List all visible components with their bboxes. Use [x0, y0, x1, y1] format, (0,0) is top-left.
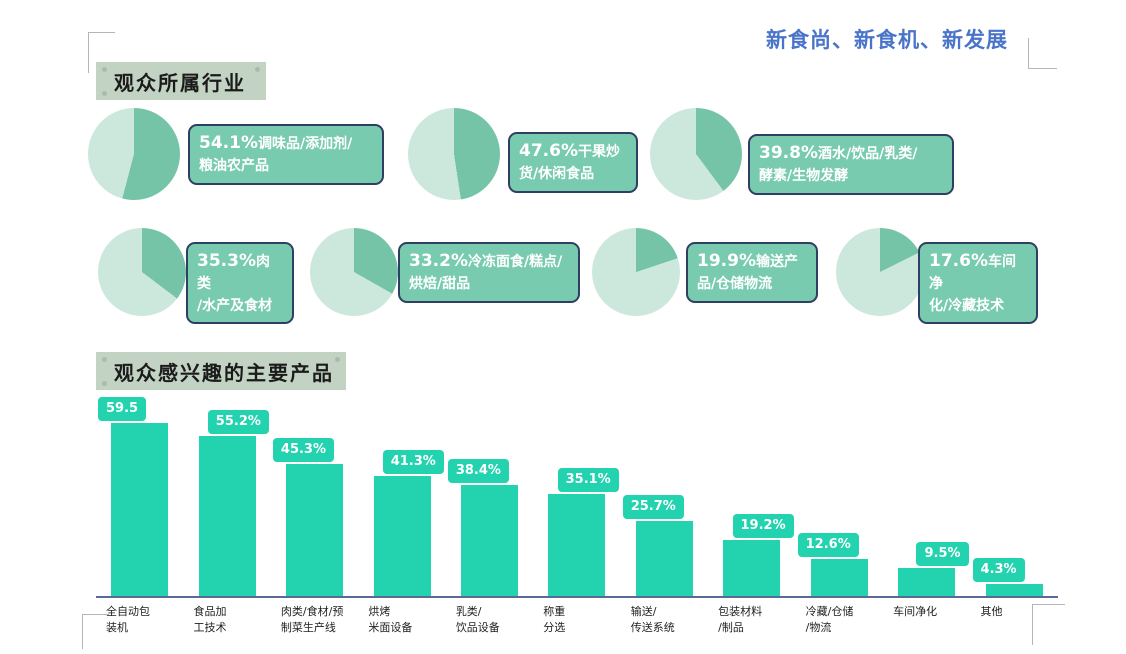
- poster-canvas: 新食尚、新食机、新发展 观众所属行业 54.1%调味品/添加剂/粮油农产品47.…: [0, 0, 1126, 654]
- callout-label-line: 调味品/添加剂/: [258, 136, 352, 152]
- bar: [111, 423, 168, 596]
- x-label-line: 其他: [981, 604, 1062, 620]
- bar: [898, 568, 955, 596]
- industry-callout-6: 19.9%输送产品/仓储物流: [686, 242, 818, 303]
- x-axis-label-4: 烘烤米面设备: [368, 604, 449, 636]
- x-label-line: 包装材料: [718, 604, 799, 620]
- x-label-line: 制菜生产线: [281, 620, 362, 636]
- bar-group: 25.7%: [621, 398, 708, 596]
- bar-value-label: 35.1%: [558, 468, 619, 492]
- bar: [199, 436, 256, 596]
- callout-label-line: 冷冻面食/糕点/: [468, 254, 562, 270]
- bar-chart-x-labels: 全自动包装机食品加工技术肉类/食材/预制菜生产线烘烤米面设备乳类/饮品设备称重分…: [96, 604, 1058, 650]
- callout-label-line: /水产及食材: [197, 298, 272, 314]
- x-axis-label-9: 冷藏/仓储/物流: [806, 604, 887, 636]
- bar-group: 45.3%: [271, 398, 358, 596]
- callout-percent: 17.6%: [929, 251, 988, 271]
- callout-percent: 54.1%: [199, 133, 258, 153]
- pie-chart-4: [98, 228, 186, 316]
- x-axis-label-6: 称重分选: [543, 604, 624, 636]
- callout-percent: 39.8%: [759, 143, 818, 163]
- pie-chart-1: [88, 108, 180, 200]
- section-heading-products: 观众感兴趣的主要产品: [96, 352, 346, 390]
- x-label-line: 分选: [543, 620, 624, 636]
- bar-group: 55.2%: [183, 398, 270, 596]
- callout-label-line: 酵素/生物发酵: [759, 168, 848, 184]
- bar-value-label: 59.5: [98, 397, 146, 421]
- industry-callout-7: 17.6%车间净化/冷藏技术: [918, 242, 1038, 324]
- pie-chart-7: [836, 228, 924, 316]
- bar-value-label: 38.4%: [448, 459, 509, 483]
- bar: [986, 584, 1043, 596]
- x-axis-label-1: 全自动包装机: [106, 604, 187, 636]
- x-label-line: 装机: [106, 620, 187, 636]
- x-label-line: 车间净化: [893, 604, 974, 620]
- bar-value-label: 45.3%: [273, 438, 334, 462]
- bar-value-label: 41.3%: [383, 450, 444, 474]
- bar: [286, 464, 343, 596]
- x-label-line: 饮品设备: [456, 620, 537, 636]
- bar-group: 19.2%: [708, 398, 795, 596]
- x-label-line: 全自动包: [106, 604, 187, 620]
- callout-percent: 33.2%: [409, 251, 468, 271]
- chart-axis-line: [96, 596, 1058, 598]
- callout-label-line: 化/冷藏技术: [929, 298, 1004, 314]
- heading-dot-left-bottom: [102, 91, 107, 96]
- x-axis-label-5: 乳类/饮品设备: [456, 604, 537, 636]
- bar-group: 9.5%: [883, 398, 970, 596]
- x-label-line: 乳类/: [456, 604, 537, 620]
- callout-label-line: 输送产: [756, 254, 798, 270]
- bar-value-label: 25.7%: [623, 495, 684, 519]
- callout-percent: 47.6%: [519, 141, 578, 161]
- callout-label-line: 烘焙/甜品: [409, 276, 470, 292]
- x-label-line: 米面设备: [368, 620, 449, 636]
- callout-percent: 35.3%: [197, 251, 256, 271]
- callout-label-line: 干果炒: [578, 144, 620, 160]
- bar-group: 59.5: [96, 398, 183, 596]
- bar-value-label: 9.5%: [916, 542, 968, 566]
- section-heading-industry-label: 观众所属行业: [114, 67, 246, 96]
- x-axis-label-7: 输送/传送系统: [631, 604, 712, 636]
- bar-value-label: 19.2%: [733, 514, 794, 538]
- x-label-line: 冷藏/仓储: [806, 604, 887, 620]
- x-label-line: 工技术: [193, 620, 274, 636]
- callout-label-line: 酒水/饮品/乳类/: [818, 146, 917, 162]
- callout-label-line: 货/休闲食品: [519, 166, 594, 182]
- x-label-line: 称重: [543, 604, 624, 620]
- pie-chart-6: [592, 228, 680, 316]
- heading2-dot-left-bottom: [102, 381, 107, 386]
- callout-percent: 19.9%: [697, 251, 756, 271]
- industry-callout-1: 54.1%调味品/添加剂/粮油农产品: [188, 124, 384, 185]
- x-label-line: 食品加: [193, 604, 274, 620]
- bar: [461, 485, 518, 596]
- bar-group: 38.4%: [446, 398, 533, 596]
- x-label-line: 输送/: [631, 604, 712, 620]
- pie-chart-3: [650, 108, 742, 200]
- industry-callout-4: 35.3%肉类/水产及食材: [186, 242, 294, 324]
- corner-bracket-top-right: [1028, 38, 1057, 69]
- x-label-line: 烘烤: [368, 604, 449, 620]
- heading-dot-left: [102, 67, 107, 72]
- bar-group: 12.6%: [796, 398, 883, 596]
- poster-title: 新食尚、新食机、新发展: [766, 24, 1008, 54]
- industry-callout-3: 39.8%酒水/饮品/乳类/酵素/生物发酵: [748, 134, 954, 195]
- x-axis-label-8: 包装材料/制品: [718, 604, 799, 636]
- bar-group: 35.1%: [533, 398, 620, 596]
- bar-group: 4.3%: [971, 398, 1058, 596]
- section-heading-industry: 观众所属行业: [96, 62, 266, 100]
- bar-value-label: 4.3%: [973, 558, 1025, 582]
- bar-group: 41.3%: [358, 398, 445, 596]
- callout-label-line: 粮油农产品: [199, 158, 269, 174]
- section-heading-products-label: 观众感兴趣的主要产品: [114, 357, 334, 386]
- x-axis-label-11: 其他: [981, 604, 1062, 620]
- pie-chart-5: [310, 228, 398, 316]
- x-label-line: /制品: [718, 620, 799, 636]
- bar: [374, 476, 431, 596]
- industry-callout-5: 33.2%冷冻面食/糕点/烘焙/甜品: [398, 242, 580, 303]
- bar: [636, 521, 693, 596]
- bar-chart: 59.555.2%45.3%41.3%38.4%35.1%25.7%19.2%1…: [96, 398, 1066, 596]
- x-label-line: 肉类/食材/预: [281, 604, 362, 620]
- bar: [548, 494, 605, 596]
- x-axis-label-3: 肉类/食材/预制菜生产线: [281, 604, 362, 636]
- callout-label-line: 品/仓储物流: [697, 276, 772, 292]
- bar: [723, 540, 780, 596]
- industry-callout-2: 47.6%干果炒货/休闲食品: [508, 132, 638, 193]
- heading2-dot-left: [102, 357, 107, 362]
- x-label-line: /物流: [806, 620, 887, 636]
- heading2-dot-right: [335, 357, 340, 362]
- bar: [811, 559, 868, 596]
- x-axis-label-10: 车间净化: [893, 604, 974, 620]
- heading-dot-right: [255, 67, 260, 72]
- bar-value-label: 55.2%: [208, 410, 269, 434]
- bar-value-label: 12.6%: [798, 533, 859, 557]
- x-label-line: 传送系统: [631, 620, 712, 636]
- x-axis-label-2: 食品加工技术: [193, 604, 274, 636]
- pie-chart-2: [408, 108, 500, 200]
